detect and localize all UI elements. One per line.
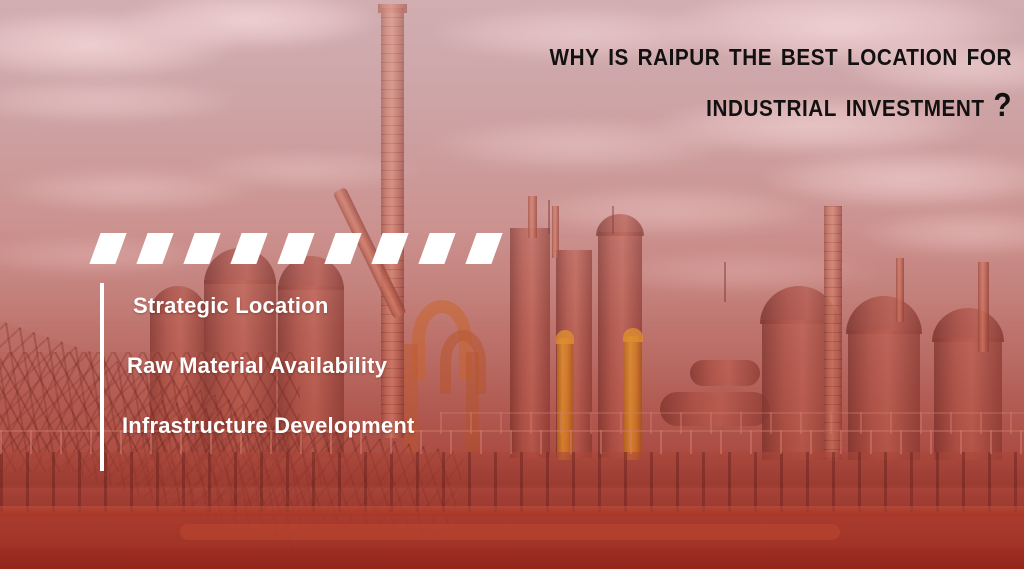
list-item: Infrastructure Development: [122, 415, 540, 437]
diagonal-stripe: [183, 233, 220, 264]
diagonal-stripe: [89, 233, 126, 264]
diagonal-stripe: [277, 233, 314, 264]
promo-banner: Why is Raipur the best location for indu…: [0, 0, 1024, 569]
headline-line-1: Why is Raipur the best location for: [472, 28, 1012, 79]
benefit-list: Strategic Location Raw Material Availabi…: [120, 295, 540, 437]
diagonal-stripe: [371, 233, 408, 264]
diagonal-stripe: [324, 233, 361, 264]
diagonal-stripe: [230, 233, 267, 264]
diagonal-stripe: [136, 233, 173, 264]
headline-line-2: industrial investment ?: [472, 79, 1012, 130]
vertical-accent-rule: [100, 283, 104, 471]
list-item: Strategic Location: [133, 295, 540, 317]
headline: Why is Raipur the best location for indu…: [472, 28, 1012, 130]
diagonal-stripe: [418, 233, 455, 264]
diagonal-stripe: [465, 233, 502, 264]
list-item: Raw Material Availability: [127, 355, 540, 377]
diagonal-stripe-decoration: [95, 233, 499, 264]
